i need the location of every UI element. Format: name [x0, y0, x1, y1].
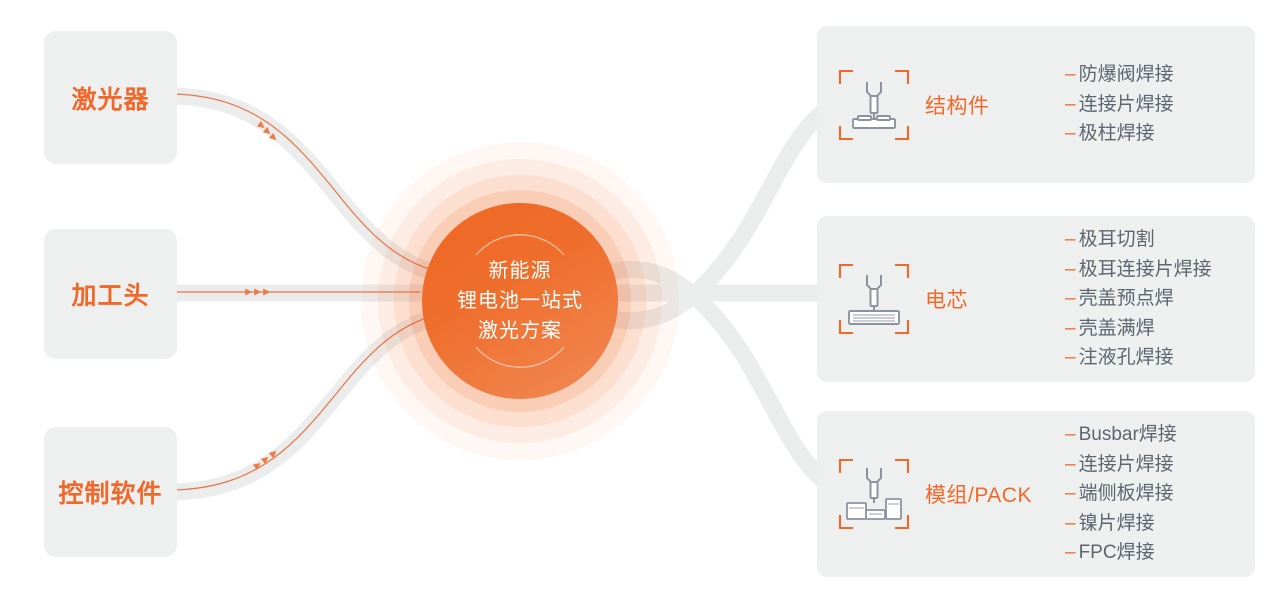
- panel-list-item: – Busbar焊接: [1065, 420, 1255, 449]
- hub-core-circle: 新能源 锂电池一站式 激光方案: [422, 203, 618, 399]
- panel-list-item: – 极耳切割: [1065, 225, 1255, 254]
- laser-weld-cell-icon: [836, 261, 912, 337]
- panel-category-label: 模组/PACK: [925, 479, 1032, 509]
- source-card-label: 激光器: [71, 80, 149, 116]
- panel-list-item: – 极柱焊接: [1065, 119, 1255, 148]
- panel-item-list: – 防爆阀焊接 – 连接片焊接 – 极柱焊接: [1065, 60, 1255, 148]
- panel-list-item-text: 镍片焊接: [1079, 509, 1155, 538]
- panel-list-item-text: 连接片焊接: [1079, 90, 1174, 119]
- application-panel-module-pack[interactable]: 模组/PACK – Busbar焊接 – 连接片焊接 – 端侧板焊接 – 镍片焊…: [817, 411, 1255, 577]
- list-dash-icon: –: [1065, 343, 1076, 372]
- panel-list-item-text: 防爆阀焊接: [1079, 60, 1174, 89]
- application-panel-structural[interactable]: 结构件 – 防爆阀焊接 – 连接片焊接 – 极柱焊接: [817, 26, 1255, 183]
- panel-list-item: – 壳盖预点焊: [1065, 284, 1255, 313]
- panel-list-item: – 极耳连接片焊接: [1065, 255, 1255, 284]
- panel-list-item-text: Busbar焊接: [1079, 420, 1177, 449]
- application-panel-cell[interactable]: 电芯 – 极耳切割 – 极耳连接片焊接 – 壳盖预点焊 – 壳盖满焊 – 注液孔…: [817, 216, 1255, 382]
- list-dash-icon: –: [1065, 314, 1076, 343]
- panel-list-item-text: 极耳连接片焊接: [1079, 255, 1212, 284]
- panel-list-item-text: 壳盖满焊: [1079, 314, 1155, 343]
- list-dash-icon: –: [1065, 90, 1076, 119]
- hub-title-line-0: 新能源: [457, 256, 583, 286]
- panel-item-list: – 极耳切割 – 极耳连接片焊接 – 壳盖预点焊 – 壳盖满焊 – 注液孔焊接: [1065, 225, 1255, 372]
- panel-category-label: 结构件: [925, 90, 990, 120]
- panel-list-item-text: 端侧板焊接: [1079, 479, 1174, 508]
- source-card-0[interactable]: 激光器: [44, 31, 177, 164]
- source-card-label: 控制软件: [58, 474, 162, 510]
- panel-list-item: – 连接片焊接: [1065, 450, 1255, 479]
- list-dash-icon: –: [1065, 479, 1076, 508]
- list-dash-icon: –: [1065, 284, 1076, 313]
- wire-arrow-markers: [249, 126, 274, 465]
- laser-weld-plate-icon: [836, 67, 912, 143]
- panel-list-item: – 防爆阀焊接: [1065, 60, 1255, 89]
- list-dash-icon: –: [1065, 255, 1076, 284]
- list-dash-icon: –: [1065, 225, 1076, 254]
- panel-list-item: – 注液孔焊接: [1065, 343, 1255, 372]
- panel-list-item-text: 极柱焊接: [1079, 119, 1155, 148]
- panel-category-label: 电芯: [925, 284, 968, 314]
- panel-list-item-text: 壳盖预点焊: [1079, 284, 1174, 313]
- list-dash-icon: –: [1065, 420, 1076, 449]
- list-dash-icon: –: [1065, 119, 1076, 148]
- hub-title-line-1: 锂电池一站式: [457, 286, 583, 316]
- list-dash-icon: –: [1065, 509, 1076, 538]
- source-card-1[interactable]: 加工头: [44, 229, 177, 359]
- source-card-2[interactable]: 控制软件: [44, 427, 177, 557]
- panel-list-item: – 连接片焊接: [1065, 90, 1255, 119]
- panel-list-item-text: 注液孔焊接: [1079, 343, 1174, 372]
- source-card-label: 加工头: [71, 276, 149, 312]
- panel-list-item: – 端侧板焊接: [1065, 479, 1255, 508]
- panel-list-item: – 镍片焊接: [1065, 509, 1255, 538]
- laser-weld-module-icon: [836, 456, 912, 532]
- list-dash-icon: –: [1065, 450, 1076, 479]
- panel-list-item-text: FPC焊接: [1079, 538, 1155, 567]
- center-hub: 新能源 锂电池一站式 激光方案: [361, 142, 679, 460]
- panel-item-list: – Busbar焊接 – 连接片焊接 – 端侧板焊接 – 镍片焊接 – FPC焊…: [1065, 420, 1255, 567]
- hub-title: 新能源 锂电池一站式 激光方案: [457, 256, 583, 346]
- panel-list-item: – FPC焊接: [1065, 538, 1255, 567]
- list-dash-icon: –: [1065, 60, 1076, 89]
- panel-list-item-text: 连接片焊接: [1079, 450, 1174, 479]
- panel-list-item: – 壳盖满焊: [1065, 314, 1255, 343]
- panel-list-item-text: 极耳切割: [1079, 225, 1155, 254]
- list-dash-icon: –: [1065, 538, 1076, 567]
- hub-title-line-2: 激光方案: [457, 316, 583, 346]
- infographic-canvas: 激光器 加工头 控制软件 新能源 锂电池一站式 激光方案: [0, 0, 1276, 598]
